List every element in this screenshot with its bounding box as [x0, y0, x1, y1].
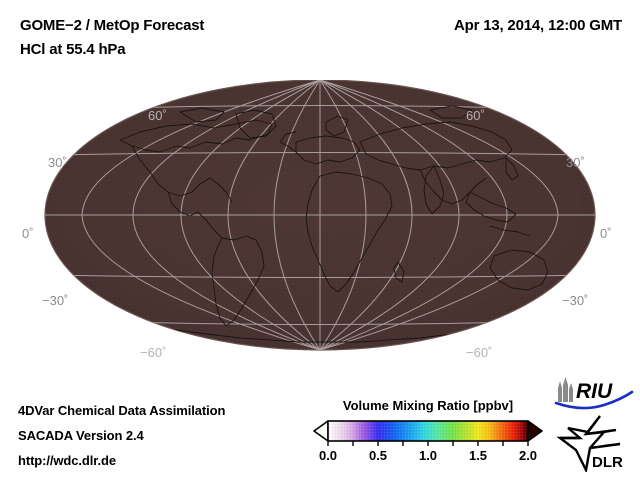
riu-tower-icon	[558, 377, 573, 402]
header-title-line1: GOME−2 / MetOp Forecast	[20, 17, 204, 34]
latitude-label: −30˚	[42, 293, 68, 308]
latitude-label: 0˚	[600, 226, 612, 241]
colorbar-tick-label: 1.0	[419, 448, 437, 463]
colorbar-under-cap	[314, 421, 328, 441]
footer-line-url[interactable]: http://wdc.dlr.de	[18, 453, 116, 468]
dlr-logo-text: DLR	[592, 454, 623, 471]
colorbar-tick-label: 0.5	[369, 448, 387, 463]
footer-line-assimilation: 4DVar Chemical Data Assimilation	[18, 403, 225, 418]
latitude-label: 60˚	[148, 108, 167, 123]
riu-logo: RIU	[552, 376, 636, 410]
latitude-label: 30˚	[566, 155, 585, 170]
colorbar-title: Volume Mixing Ratio [ppbv]	[312, 398, 544, 413]
header-title-line2: HCl at 55.4 hPa	[20, 41, 125, 58]
colorbar-tick-labels: 0.00.51.01.52.0	[312, 448, 544, 466]
colorbar-tick-label: 1.5	[469, 448, 487, 463]
colorbar: Volume Mixing Ratio [ppbv] 0.00.51.01.52…	[312, 398, 544, 473]
riu-logo-text: RIU	[576, 380, 613, 403]
latitude-label: −60˚	[140, 345, 166, 360]
footer-line-version: SACADA Version 2.4	[18, 428, 144, 443]
header-datetime: Apr 13, 2014, 12:00 GMT	[454, 17, 622, 34]
latitude-label: 60˚	[466, 108, 485, 123]
colorbar-tick-label: 2.0	[519, 448, 537, 463]
colorbar-over-cap	[528, 421, 542, 441]
latitude-label: 30˚	[48, 155, 67, 170]
colorbar-gradient	[312, 420, 544, 446]
latitude-label: −60˚	[466, 345, 492, 360]
dlr-logo: DLR	[556, 414, 636, 472]
world-map-panel: 60˚60˚30˚30˚0˚0˚−30˚−30˚−60˚−60˚	[0, 80, 640, 380]
latitude-label: 0˚	[22, 226, 34, 241]
colorbar-tick-label: 0.0	[319, 448, 337, 463]
mollweide-map	[0, 80, 640, 380]
latitude-label: −30˚	[562, 293, 588, 308]
